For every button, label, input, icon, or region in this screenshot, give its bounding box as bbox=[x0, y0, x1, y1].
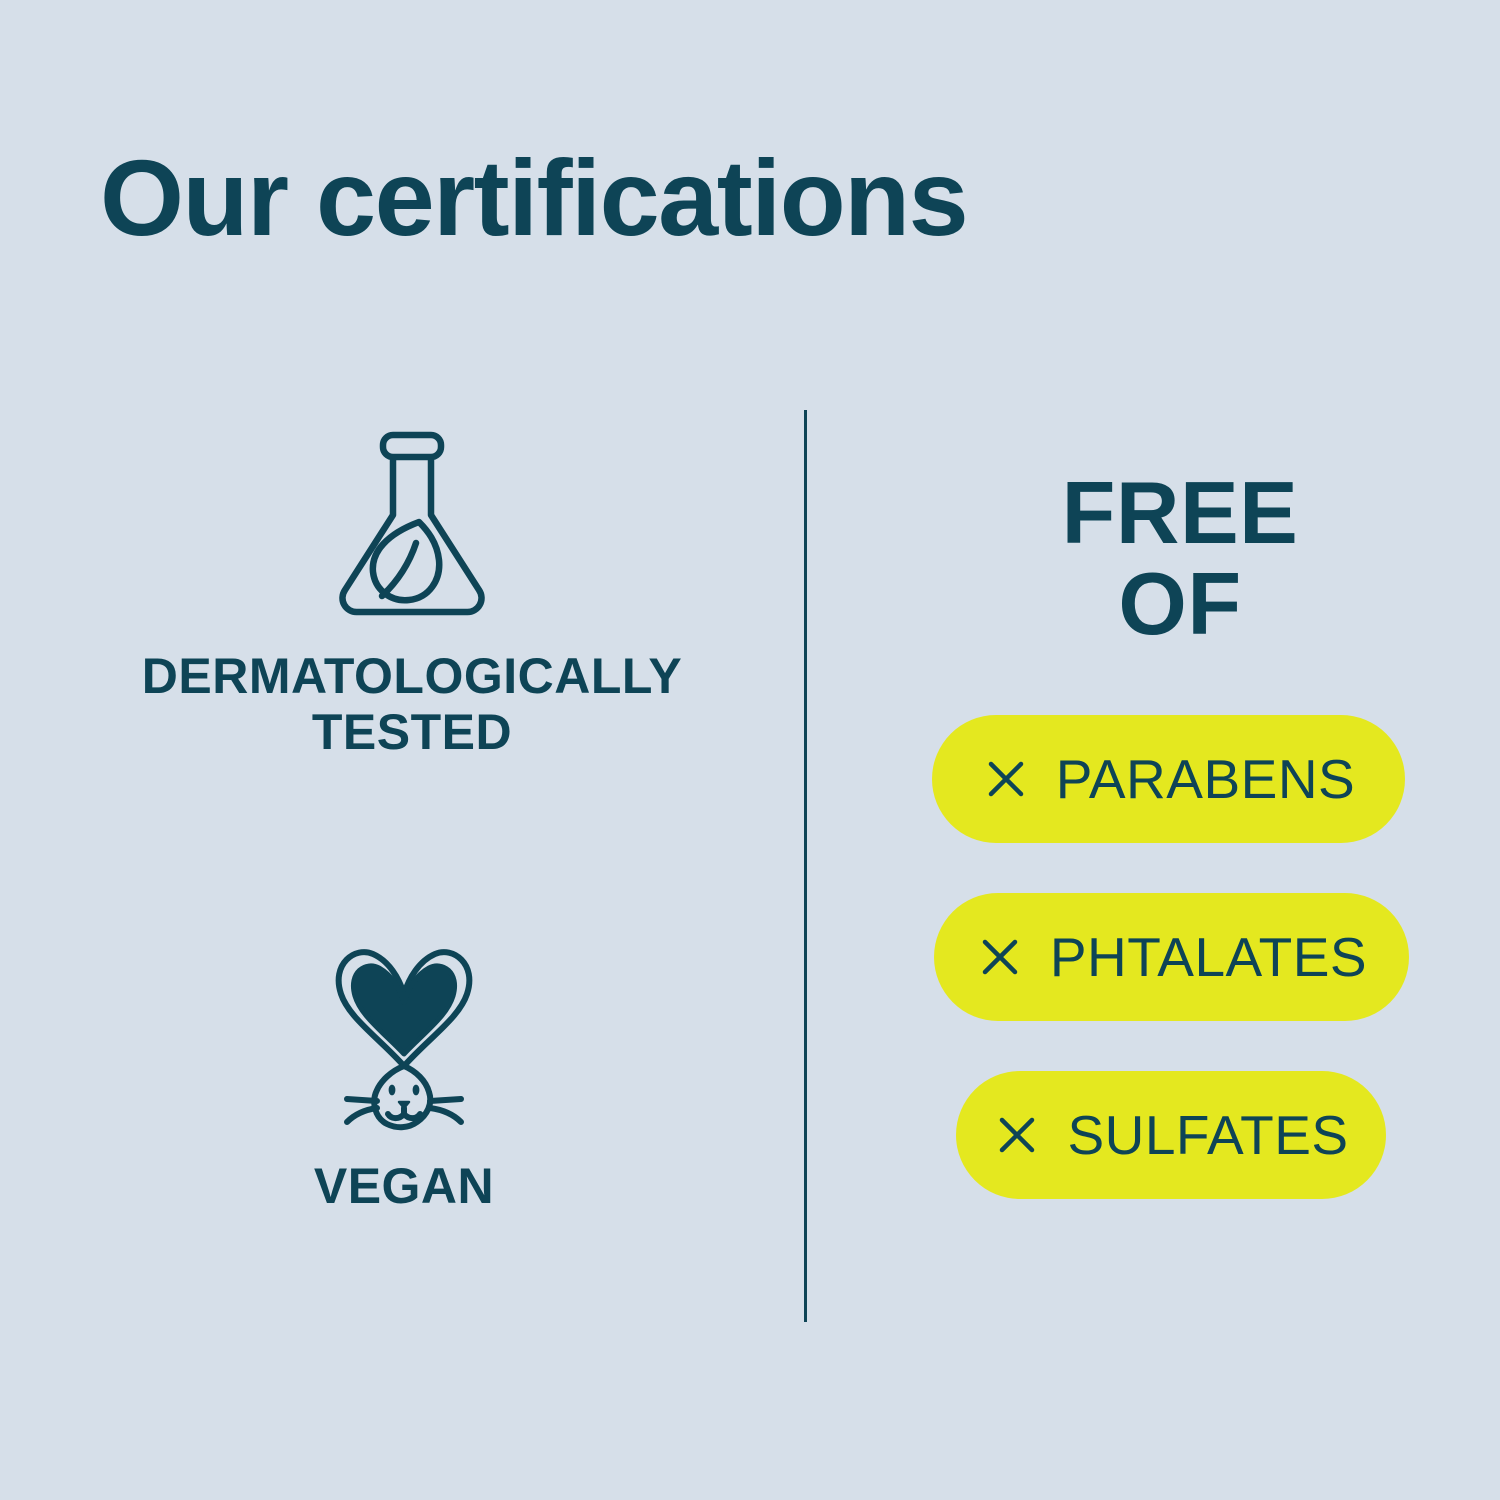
free-of-heading-line-2: OF bbox=[920, 559, 1440, 650]
x-cross-icon bbox=[993, 1111, 1041, 1159]
certification-label: DERMATOLOGICALLY TESTED bbox=[82, 648, 742, 760]
vertical-divider bbox=[804, 410, 807, 1322]
free-of-column: FREE OF PARABENS PHTALATES SULFATE bbox=[900, 468, 1440, 1199]
free-of-heading: FREE OF bbox=[900, 468, 1440, 649]
free-of-list: PARABENS PHTALATES SULFATES bbox=[900, 715, 1440, 1199]
bunny-heart-ears-icon bbox=[319, 938, 489, 1134]
certification-label: VEGAN bbox=[74, 1158, 734, 1214]
certification-label-line-1: DERMATOLOGICALLY bbox=[142, 648, 682, 704]
certifications-column: DERMATOLOGICALLY TESTED bbox=[60, 430, 720, 1214]
certification-label-line-1: VEGAN bbox=[314, 1158, 494, 1214]
free-of-item-label: PHTALATES bbox=[1050, 925, 1367, 989]
x-cross-icon bbox=[982, 755, 1030, 803]
page-title: Our certifications bbox=[100, 144, 967, 252]
free-of-heading-line-1: FREE bbox=[920, 468, 1440, 559]
free-of-item-label: PARABENS bbox=[1056, 747, 1355, 811]
certification-vegan: VEGAN bbox=[74, 938, 734, 1214]
free-of-item-parabens: PARABENS bbox=[932, 715, 1405, 843]
certification-label-line-2: TESTED bbox=[312, 704, 512, 760]
certification-dermatologically-tested: DERMATOLOGICALLY TESTED bbox=[82, 430, 742, 760]
flask-leaf-icon bbox=[327, 430, 497, 620]
free-of-item-phtalates: PHTALATES bbox=[934, 893, 1409, 1021]
free-of-item-sulfates: SULFATES bbox=[956, 1071, 1386, 1199]
free-of-item-label: SULFATES bbox=[1067, 1103, 1348, 1167]
certifications-infographic: Our certifications DERMATOLOGICALLY TEST… bbox=[0, 0, 1500, 1500]
x-cross-icon bbox=[976, 933, 1024, 981]
